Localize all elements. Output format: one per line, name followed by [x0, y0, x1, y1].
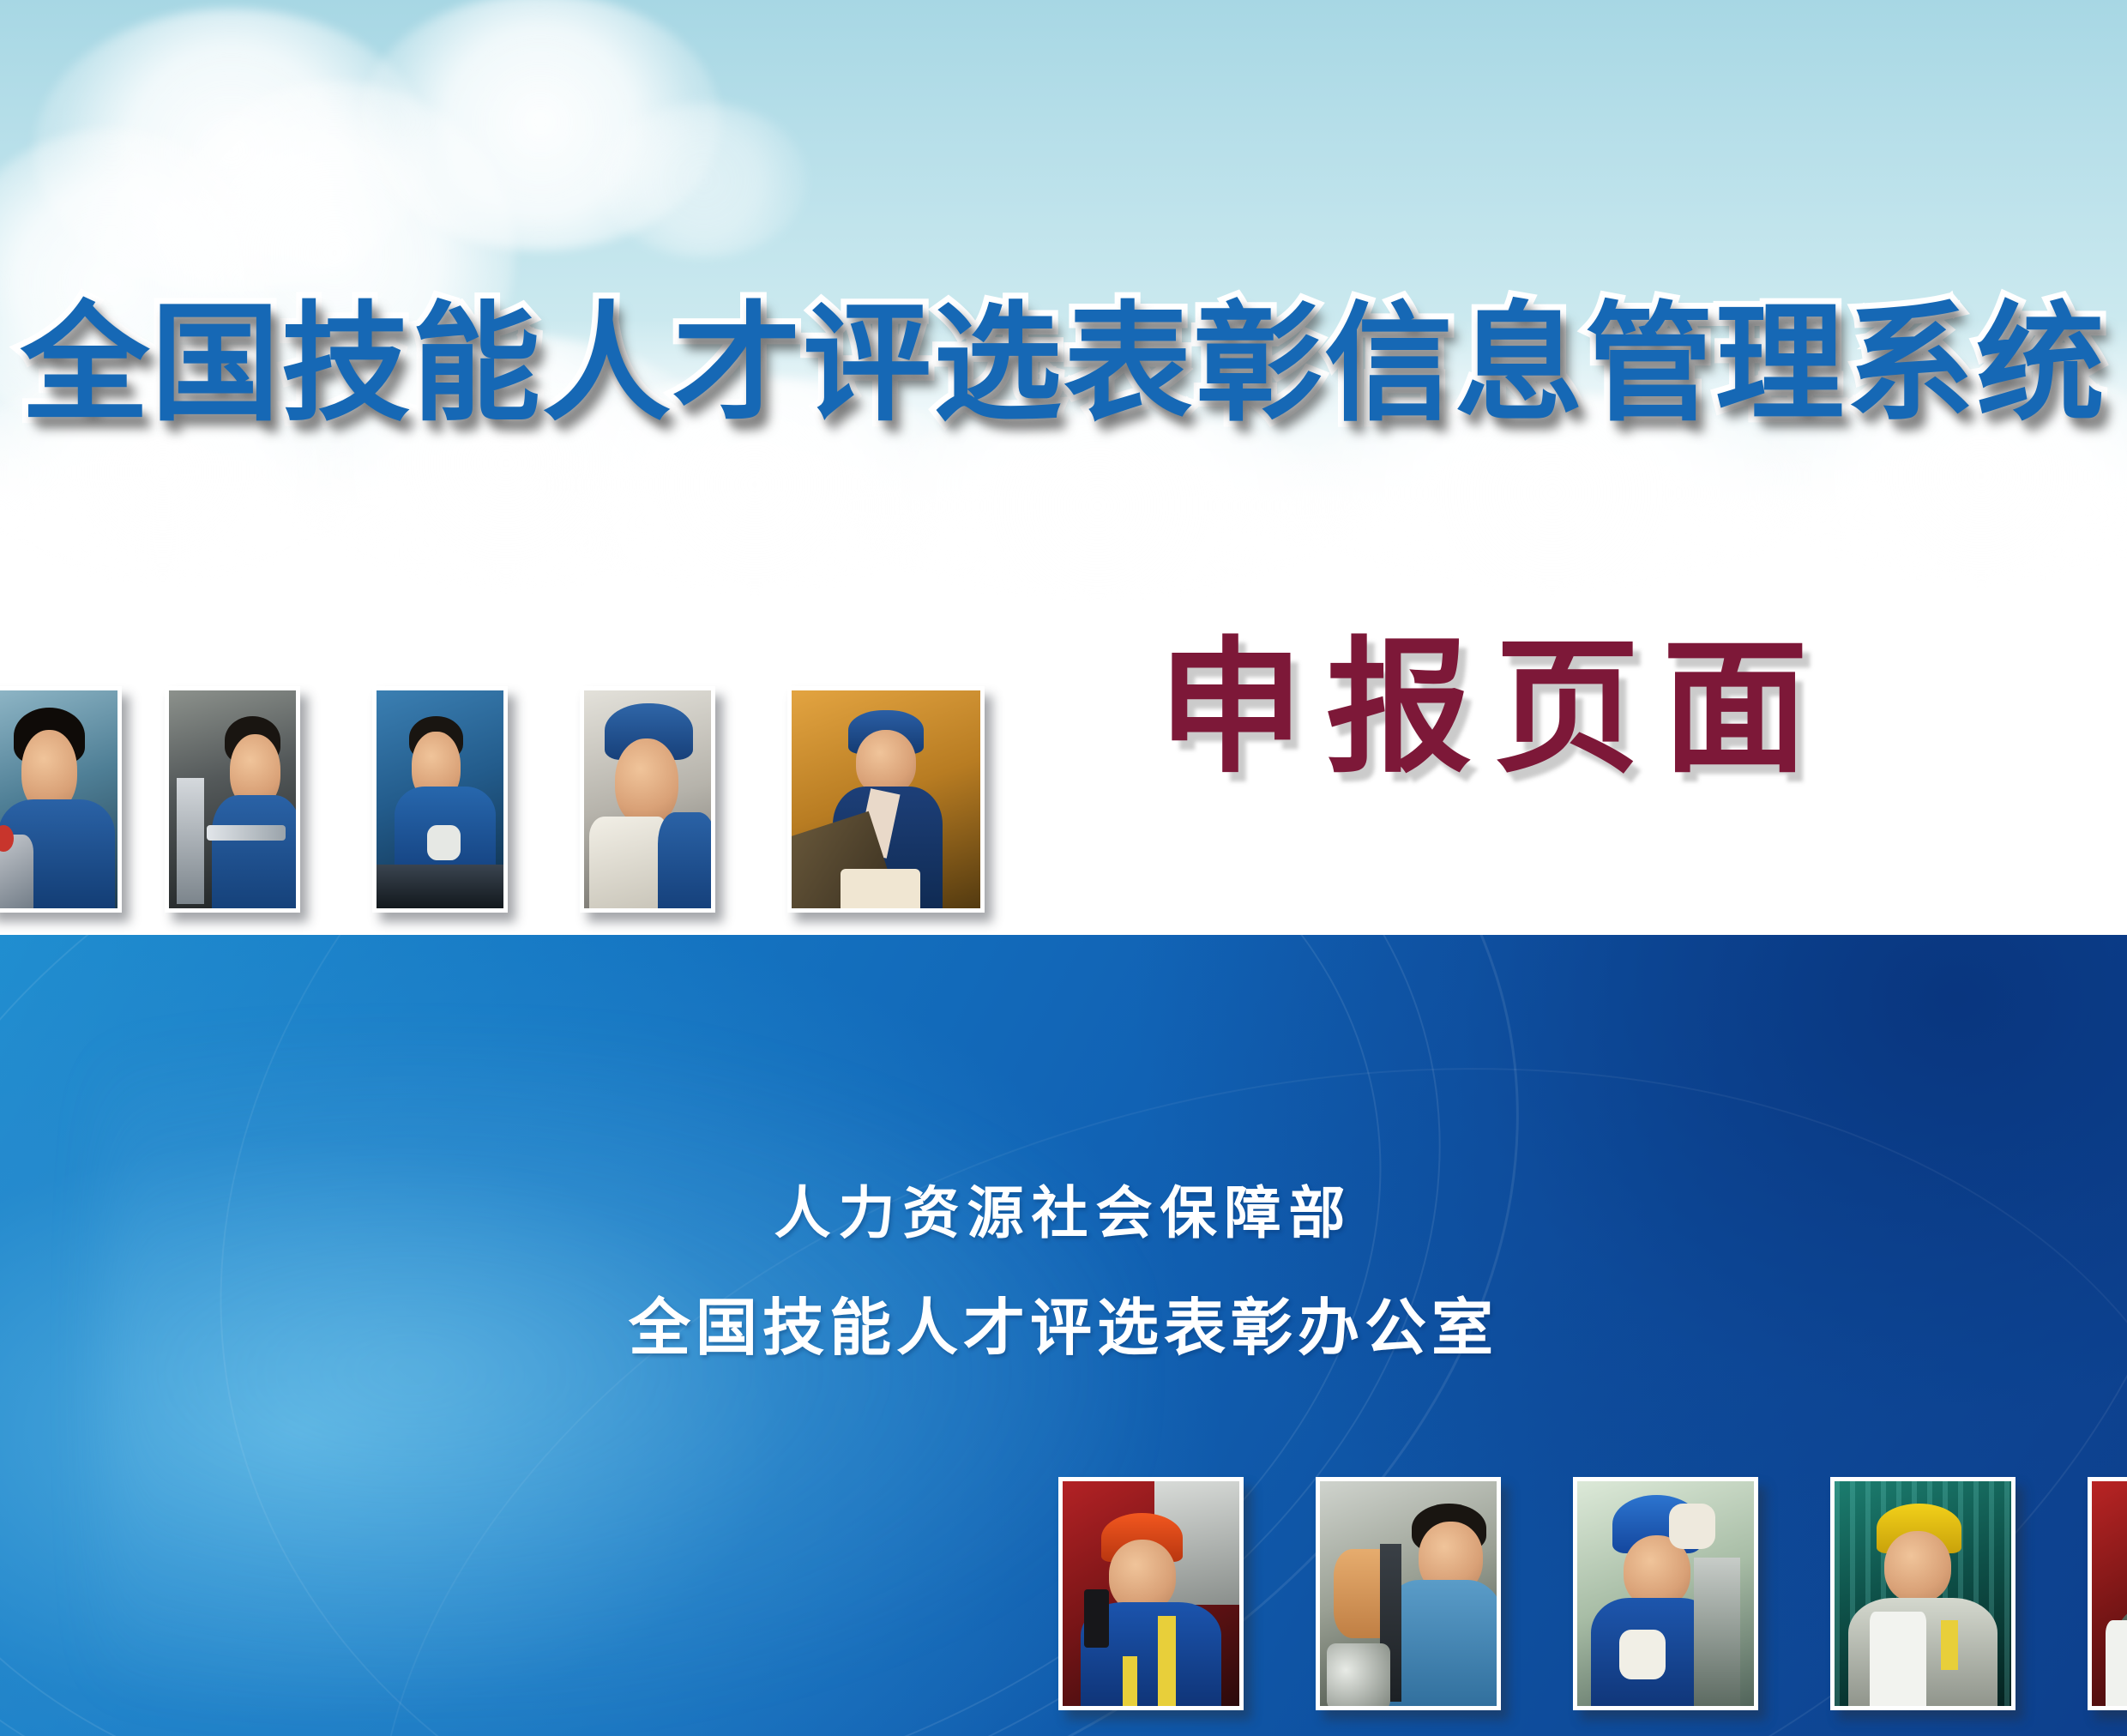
photo-thumbnail [0, 686, 122, 913]
subtitle-shenbao-page: 申报页面 [1158, 635, 1830, 781]
cloud-shape [600, 103, 806, 257]
photo-thumbnail [1573, 1477, 1758, 1710]
photo-thumbnail [580, 686, 715, 913]
org-line-office: 全国技能人才评选表彰办公室 [0, 1297, 2127, 1359]
presentation-slide: 全国技能人才评选表彰信息管理系统 申报页面 [0, 0, 2127, 1736]
photo-thumbnail [2088, 1477, 2127, 1710]
photo-thumbnail [787, 686, 985, 913]
photo-thumbnail [372, 686, 508, 913]
photo-thumbnail [165, 686, 300, 913]
photo-thumbnail [1316, 1477, 1501, 1710]
cloud-shape [841, 412, 1355, 600]
org-line-ministry: 人力资源社会保障部 [0, 1185, 2127, 1242]
footer-organizations: 人力资源社会保障部 全国技能人才评选表彰办公室 [0, 1185, 2127, 1359]
page-title: 全国技能人才评选表彰信息管理系统 [0, 300, 2127, 429]
photo-thumbnail [1058, 1477, 1244, 1710]
photo-thumbnail [1830, 1477, 2016, 1710]
